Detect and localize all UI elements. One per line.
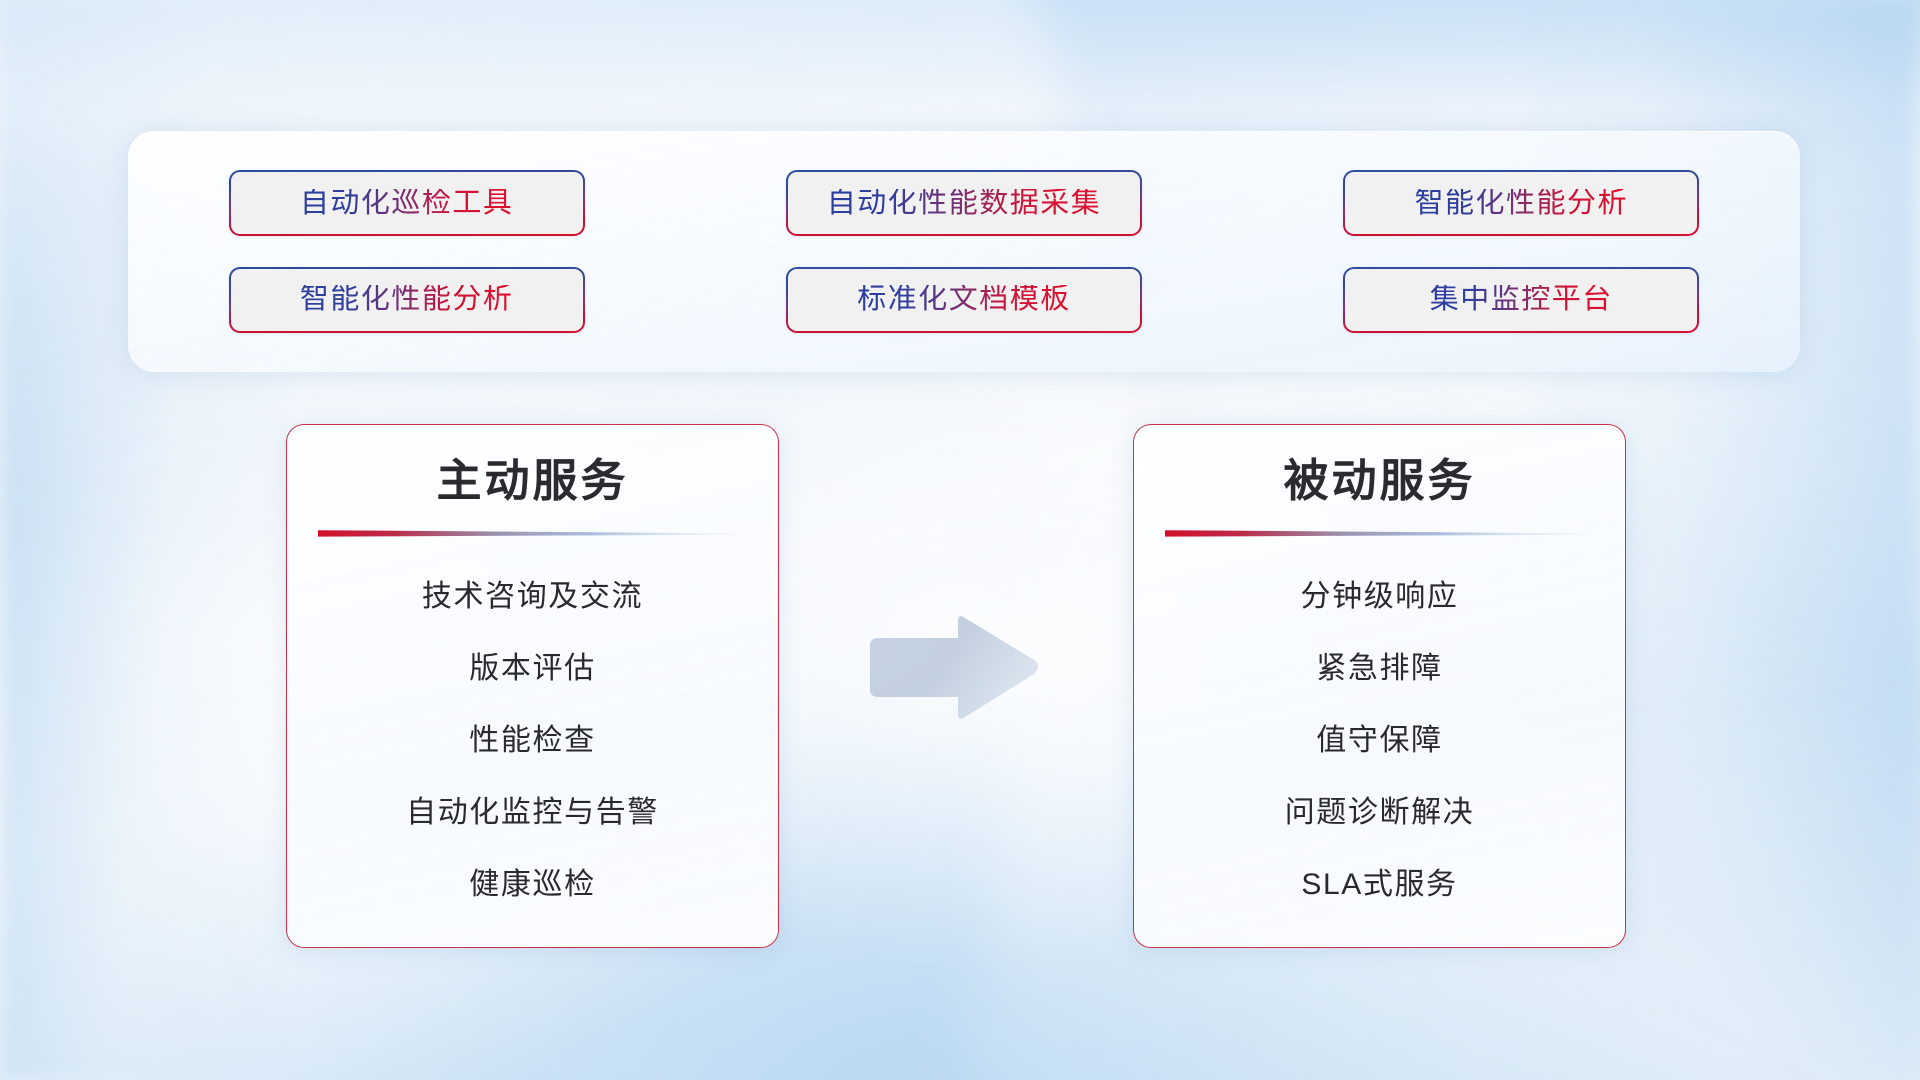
capability-tag-label: 标准化文档模板 bbox=[857, 285, 1071, 314]
capability-tag-label: 自动化巡检工具 bbox=[300, 189, 514, 218]
service-list-item: 问题诊断解决 bbox=[1285, 777, 1475, 849]
service-list-item: 值守保障 bbox=[1316, 705, 1442, 777]
service-list-item: SLA式服务 bbox=[1301, 849, 1457, 921]
capability-tag[interactable]: 自动化性能数据采集 bbox=[786, 170, 1142, 236]
service-list-item: 性能检查 bbox=[469, 705, 595, 777]
capability-tags-panel: 自动化巡检工具 自动化性能数据采集 智能化性能分析 智能化性能分析 标准化文档模… bbox=[128, 131, 1800, 372]
capability-tag-label: 自动化性能数据采集 bbox=[827, 189, 1102, 218]
capability-tag[interactable]: 智能化性能分析 bbox=[229, 267, 585, 333]
capability-tag[interactable]: 智能化性能分析 bbox=[1343, 170, 1699, 236]
capability-tag-label: 智能化性能分析 bbox=[300, 285, 514, 314]
service-list-item: 紧急排障 bbox=[1316, 633, 1442, 705]
arrow-right-icon bbox=[866, 613, 1041, 723]
capability-tag-label: 集中监控平台 bbox=[1430, 285, 1613, 314]
service-list-item: 技术咨询及交流 bbox=[422, 561, 643, 633]
service-card-title: 被动服务 bbox=[1283, 455, 1475, 507]
capability-tag-label: 智能化性能分析 bbox=[1415, 189, 1629, 218]
service-item-list: 技术咨询及交流 版本评估 性能检查 自动化监控与告警 健康巡检 bbox=[287, 561, 778, 921]
service-list-item: 版本评估 bbox=[469, 633, 595, 705]
capability-tag[interactable]: 标准化文档模板 bbox=[786, 267, 1142, 333]
capability-tag[interactable]: 集中监控平台 bbox=[1343, 267, 1699, 333]
service-list-item: 健康巡检 bbox=[469, 849, 595, 921]
service-list-item: 分钟级响应 bbox=[1301, 561, 1459, 633]
service-list-item: 自动化监控与告警 bbox=[406, 777, 659, 849]
title-divider bbox=[318, 529, 748, 539]
capability-tags-grid: 自动化巡检工具 自动化性能数据采集 智能化性能分析 智能化性能分析 标准化文档模… bbox=[128, 155, 1800, 348]
title-divider bbox=[1165, 529, 1595, 539]
service-card-proactive: 主动服务 技术咨询及交流 版本评估 性能检查 自动化监控与告警 健康巡检 bbox=[286, 424, 779, 948]
service-item-list: 分钟级响应 紧急排障 值守保障 问题诊断解决 SLA式服务 bbox=[1134, 561, 1625, 921]
service-card-reactive: 被动服务 分钟级响应 紧急排障 值守保障 问题诊断解决 SLA式服务 bbox=[1133, 424, 1626, 948]
capability-tag[interactable]: 自动化巡检工具 bbox=[229, 170, 585, 236]
service-card-title: 主动服务 bbox=[436, 455, 628, 507]
